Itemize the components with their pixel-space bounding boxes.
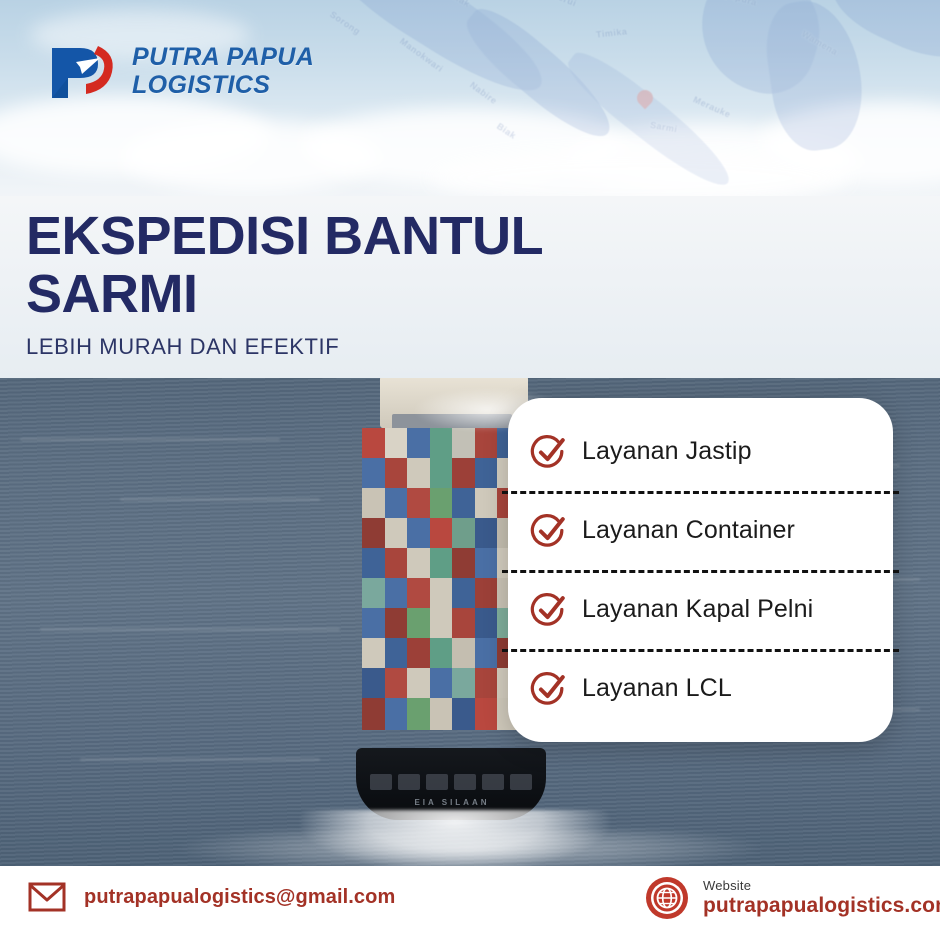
brand-logo[interactable]: PUTRA PAPUA LOGISTICS: [46, 40, 314, 102]
service-item-jastip[interactable]: Layanan Jastip: [508, 412, 893, 491]
footer-website-block[interactable]: Website putrapapualogistics.com: [645, 876, 940, 920]
service-label: Layanan Container: [582, 516, 795, 545]
hero-headline: EKSPEDISI BANTUL SARMI LEBIH MURAH DAN E…: [26, 208, 726, 360]
service-item-container[interactable]: Layanan Container: [508, 491, 893, 570]
putra-papua-p-arrow-mark: [46, 40, 120, 102]
footer-website-url: putrapapualogistics.com: [703, 894, 940, 918]
poster-canvas: Sorong Manokwari Nabire Biak Jayapura Ti…: [0, 0, 940, 940]
service-label: Layanan Jastip: [582, 437, 752, 466]
circle-check-icon: [530, 670, 568, 708]
service-item-lcl[interactable]: Layanan LCL: [508, 649, 893, 728]
map-label: Serui: [551, 0, 578, 8]
service-label: Layanan Kapal Pelni: [582, 595, 813, 624]
services-card: Layanan Jastip Layanan Container Layanan…: [508, 398, 893, 742]
footer-email-text: putrapapualogistics@gmail.com: [84, 886, 395, 909]
footer-email-block[interactable]: putrapapualogistics@gmail.com: [28, 882, 395, 912]
globe-icon: [645, 876, 689, 920]
service-label: Layanan LCL: [582, 674, 732, 703]
ship-hull-name: EIA SILAAN: [352, 798, 552, 807]
service-item-kapal-pelni[interactable]: Layanan Kapal Pelni: [508, 570, 893, 649]
circle-check-icon: [530, 591, 568, 629]
envelope-icon: [28, 882, 66, 912]
circle-check-icon: [530, 512, 568, 550]
footer-bar: putrapapualogistics@gmail.com Website pu…: [0, 866, 940, 940]
circle-check-icon: [530, 433, 568, 471]
map-label: Sorong: [328, 9, 362, 37]
map-label: Merauke: [692, 94, 733, 119]
map-label: Timika: [596, 26, 628, 39]
map-overlay: Sorong Manokwari Nabire Biak Jayapura Ti…: [300, 0, 940, 190]
footer-website-label: Website: [703, 878, 940, 893]
hero-subtitle: LEBIH MURAH DAN EFEKTIF: [26, 334, 726, 360]
page-title-line1: EKSPEDISI BANTUL: [26, 208, 726, 266]
map-label: Biak: [495, 121, 518, 141]
brand-name-line1: PUTRA PAPUA: [132, 45, 314, 70]
page-title-line2: SARMI: [26, 266, 726, 324]
map-label: Nabire: [468, 80, 499, 106]
brand-name-line2: LOGISTICS: [132, 73, 314, 98]
